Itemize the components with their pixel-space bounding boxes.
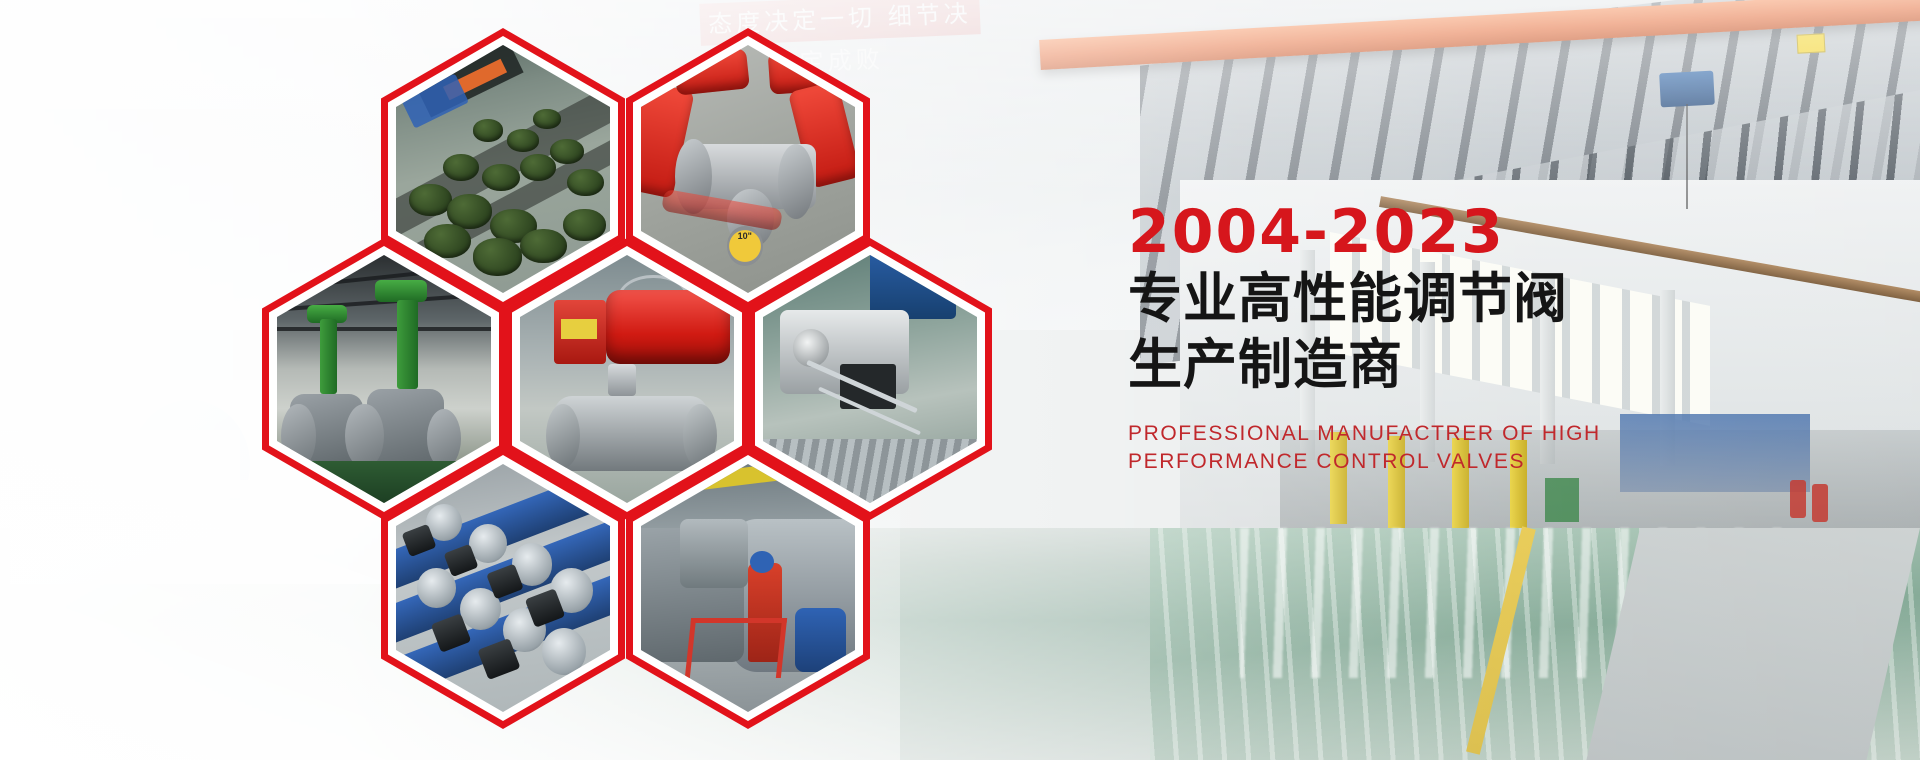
headline-line-1: 专业高性能调节阀 (1128, 266, 1688, 332)
hero-banner: 态度决定一切 细节决定成败 (0, 0, 1920, 760)
hero-text-block: 2004-2023 专业高性能调节阀 生产制造商 PROFESSIONAL MA… (1128, 202, 1688, 476)
subtitle-block: PROFESSIONAL MANUFACTRER OF HIGH PERFORM… (1128, 420, 1688, 477)
subtitle-line-2: PERFORMANCE CONTROL VALVES (1128, 448, 1688, 476)
hexagon-photo-cluster: 10" (262, 28, 992, 728)
subtitle-line-1: PROFESSIONAL MANUFACTRER OF HIGH (1128, 420, 1688, 448)
years-range: 2004-2023 (1128, 202, 1688, 262)
headline-line-2: 生产制造商 (1128, 332, 1688, 398)
valve-size-tag: 10" (727, 226, 763, 266)
